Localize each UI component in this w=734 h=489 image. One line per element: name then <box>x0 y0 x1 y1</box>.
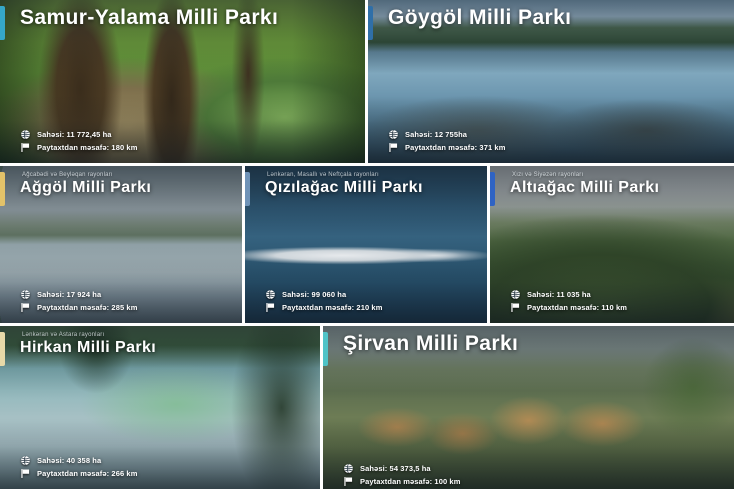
stat-distance-text: Paytaxtdan məsafə: 110 km <box>527 303 627 312</box>
stat-distance-text: Paytaxtdan məsafə: 180 km <box>37 143 137 152</box>
globe-icon <box>388 129 399 140</box>
globe-icon <box>265 289 276 300</box>
stat-area: Sahəsi: 40 358 ha <box>20 455 308 466</box>
park-stats: Sahəsi: 12 755ha Paytaxtdan məsafə: 371 … <box>368 127 734 163</box>
card-accent-bar <box>368 6 373 40</box>
park-card-hirkan[interactable]: Lənkəran və Astara rayonları Hirkan Mill… <box>0 326 320 489</box>
stat-area-text: Sahəsi: 17 924 ha <box>37 290 101 299</box>
globe-icon <box>20 455 31 466</box>
park-card-aggol[interactable]: Ağcabədi və Beyləqan rayonları Ağgöl Mil… <box>0 166 242 323</box>
stat-area-text: Sahəsi: 12 755ha <box>405 130 467 139</box>
park-stats: Sahəsi: 11 035 ha Paytaxtdan məsafə: 110… <box>490 287 734 323</box>
park-title: Şirvan Milli Parkı <box>343 333 722 356</box>
stat-area: Sahəsi: 54 373,5 ha <box>343 463 722 474</box>
stat-distance: Paytaxtdan məsafə: 285 km <box>20 302 230 313</box>
park-title: Altıağac Milli Parkı <box>510 179 722 196</box>
stat-distance-text: Paytaxtdan məsafə: 100 km <box>360 477 460 486</box>
stat-distance: Paytaxtdan məsafə: 371 km <box>388 142 722 153</box>
stat-distance: Paytaxtdan məsafə: 210 km <box>265 302 475 313</box>
park-card-goygol[interactable]: Göygöl Milli Parkı Sahəsi: 12 755ha <box>368 0 734 163</box>
flag-icon <box>265 302 276 313</box>
globe-icon <box>343 463 354 474</box>
stat-area: Sahəsi: 17 924 ha <box>20 289 230 300</box>
park-stats: Sahəsi: 17 924 ha Paytaxtdan məsafə: 285… <box>0 287 242 323</box>
park-title: Hirkan Milli Parkı <box>20 339 308 356</box>
card-row-top: Samur-Yalama Milli Parkı Sahəsi: 11 772,… <box>0 0 734 163</box>
stat-distance-text: Paytaxtdan məsafə: 210 km <box>282 303 382 312</box>
stat-area-text: Sahəsi: 11 772,45 ha <box>37 130 112 139</box>
park-subtitle: Lənkəran, Masallı və Neftçala rayonları <box>267 172 475 178</box>
park-stats: Sahəsi: 40 358 ha Paytaxtdan məsafə: 266… <box>0 453 320 489</box>
flag-icon <box>388 142 399 153</box>
stat-area: Sahəsi: 11 035 ha <box>510 289 722 300</box>
park-title: Ağgöl Milli Parkı <box>20 179 230 196</box>
park-stats: Sahəsi: 11 772,45 ha Paytaxtdan məsafə: … <box>0 127 365 163</box>
card-accent-bar <box>0 6 5 40</box>
flag-icon <box>510 302 521 313</box>
park-subtitle: Lənkəran və Astara rayonları <box>22 332 308 338</box>
park-cards-board: Samur-Yalama Milli Parkı Sahəsi: 11 772,… <box>0 0 734 489</box>
park-title: Samur-Yalama Milli Parkı <box>20 7 353 30</box>
card-accent-bar <box>0 332 5 366</box>
park-card-altiagac[interactable]: Xızı və Siyəzən rayonları Altıağac Milli… <box>490 166 734 323</box>
park-card-sirvan[interactable]: Şirvan Milli Parkı Sahəsi: 54 373,5 ha <box>323 326 734 489</box>
stat-area-text: Sahəsi: 99 060 ha <box>282 290 346 299</box>
card-row-bottom: Lənkəran və Astara rayonları Hirkan Mill… <box>0 326 734 489</box>
park-subtitle: Xızı və Siyəzən rayonları <box>512 172 722 178</box>
park-stats: Sahəsi: 99 060 ha Paytaxtdan məsafə: 210… <box>245 287 487 323</box>
flag-icon <box>343 476 354 487</box>
park-stats: Sahəsi: 54 373,5 ha Paytaxtdan məsafə: 1… <box>323 461 734 489</box>
stat-distance: Paytaxtdan məsafə: 110 km <box>510 302 722 313</box>
stat-distance-text: Paytaxtdan məsafə: 266 km <box>37 469 137 478</box>
park-card-samur-yalama[interactable]: Samur-Yalama Milli Parkı Sahəsi: 11 772,… <box>0 0 365 163</box>
flag-icon <box>20 468 31 479</box>
globe-icon <box>510 289 521 300</box>
stat-distance: Paytaxtdan məsafə: 100 km <box>343 476 722 487</box>
stat-area-text: Sahəsi: 11 035 ha <box>527 290 591 299</box>
stat-distance: Paytaxtdan məsafə: 180 km <box>20 142 353 153</box>
park-card-qizilagac[interactable]: Lənkəran, Masallı və Neftçala rayonları … <box>245 166 487 323</box>
card-accent-bar <box>0 172 5 206</box>
park-title: Göygöl Milli Parkı <box>388 7 722 30</box>
stat-area-text: Sahəsi: 54 373,5 ha <box>360 464 431 473</box>
stat-area: Sahəsi: 11 772,45 ha <box>20 129 353 140</box>
stat-distance: Paytaxtdan məsafə: 266 km <box>20 468 308 479</box>
stat-distance-text: Paytaxtdan məsafə: 285 km <box>37 303 137 312</box>
stat-area-text: Sahəsi: 40 358 ha <box>37 456 101 465</box>
flag-icon <box>20 142 31 153</box>
park-title: Qızılağac Milli Parkı <box>265 179 475 196</box>
stat-area: Sahəsi: 99 060 ha <box>265 289 475 300</box>
globe-icon <box>20 129 31 140</box>
card-accent-bar <box>490 172 495 206</box>
card-accent-bar <box>323 332 328 366</box>
park-subtitle: Ağcabədi və Beyləqan rayonları <box>22 172 230 178</box>
globe-icon <box>20 289 31 300</box>
stat-distance-text: Paytaxtdan məsafə: 371 km <box>405 143 505 152</box>
card-accent-bar <box>245 172 250 206</box>
stat-area: Sahəsi: 12 755ha <box>388 129 722 140</box>
flag-icon <box>20 302 31 313</box>
card-row-middle: Ağcabədi və Beyləqan rayonları Ağgöl Mil… <box>0 166 734 323</box>
